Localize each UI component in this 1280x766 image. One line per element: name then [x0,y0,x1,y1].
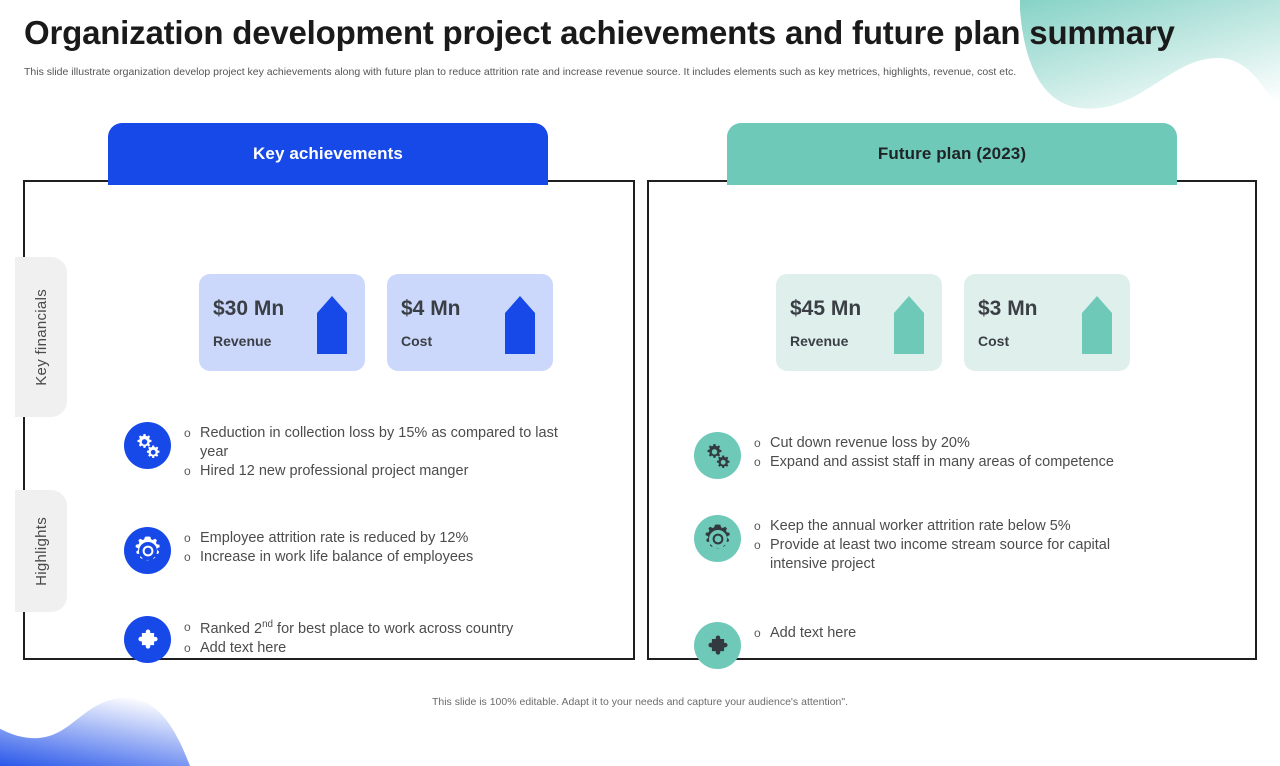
list-item-text: Add text here [770,624,856,643]
gears-icon [694,432,741,479]
bullet-list: o Cut down revenue loss by 20% o Expand … [754,432,1114,472]
bullet-group: o Cut down revenue loss by 20% o Expand … [694,432,1114,479]
tab-key-achievements[interactable]: Key achievements [108,123,548,185]
side-label-highlights-text: Highlights [33,517,50,586]
bullet-marker: o [184,529,200,548]
bullet-group: o Employee attrition rate is reduced by … [124,527,473,574]
list-item: o Provide at least two income stream sou… [754,536,1160,574]
tab-future-plan-label: Future plan (2023) [878,144,1026,164]
list-item: o Ranked 2nd for best place to work acro… [184,618,513,639]
panel-future-plan: $45 Mn Revenue $3 Mn Cost [647,180,1257,660]
tab-key-achievements-label: Key achievements [253,144,403,164]
list-item: o Add text here [754,624,856,643]
bullet-list: o Ranked 2nd for best place to work acro… [184,616,513,658]
list-item: o Reduction in collection loss by 15% as… [184,424,580,462]
list-item-text: Employee attrition rate is reduced by 12… [200,529,468,548]
list-item: o Keep the annual worker attrition rate … [754,517,1160,536]
kpi-value-cost: $4 Mn [401,296,461,322]
bullet-group: o Add text here [694,622,856,669]
bullet-list: o Keep the annual worker attrition rate … [754,515,1160,574]
kpi-card-revenue: $45 Mn Revenue [776,274,942,371]
slide-header: Organization development project achieve… [24,14,1204,79]
gears-icon [124,422,171,469]
bullet-list: o Employee attrition rate is reduced by … [184,527,473,567]
kpi-label-cost: Cost [401,333,461,349]
arrow-up-icon [894,296,924,354]
bullet-marker: o [754,453,770,472]
kpi-value-cost: $3 Mn [978,296,1038,322]
list-item: o Increase in work life balance of emplo… [184,548,473,567]
kpi-value-revenue: $45 Mn [790,296,861,322]
bullet-marker: o [754,536,770,574]
bullet-marker: o [184,639,200,658]
bullet-group: o Keep the annual worker attrition rate … [694,515,1160,574]
list-item: o Employee attrition rate is reduced by … [184,529,473,548]
bullet-group: o Ranked 2nd for best place to work acro… [124,616,513,663]
list-item-text: Expand and assist staff in many areas of… [770,453,1114,472]
kpi-row-future-plan: $45 Mn Revenue $3 Mn Cost [776,274,1130,371]
kpi-card-cost: $4 Mn Cost [387,274,553,371]
kpi-card-cost: $3 Mn Cost [964,274,1130,371]
page-subtitle: This slide illustrate organization devel… [24,65,1204,79]
list-item-text: Increase in work life balance of employe… [200,548,473,567]
list-item-text: Keep the annual worker attrition rate be… [770,517,1071,536]
bullet-marker: o [184,424,200,462]
kpi-label-revenue: Revenue [213,333,284,349]
side-label-highlights: Highlights [15,490,67,612]
panel-key-achievements: Key financials Highlights $30 Mn Revenue… [23,180,635,660]
gear-icon [694,515,741,562]
bullet-marker: o [754,517,770,536]
page-title: Organization development project achieve… [24,14,1204,53]
puzzle-icon [124,616,171,663]
gear-icon [124,527,171,574]
list-item: o Hired 12 new professional project mang… [184,462,580,481]
tab-future-plan[interactable]: Future plan (2023) [727,123,1177,185]
puzzle-icon [694,622,741,669]
side-label-key-financials: Key financials [15,257,67,417]
arrow-up-icon [505,296,535,354]
arrow-up-icon [317,296,347,354]
kpi-label-revenue: Revenue [790,333,861,349]
bullet-list: o Add text here [754,622,856,643]
list-item-text: Ranked 2nd for best place to work across… [200,618,513,639]
bullet-marker: o [754,434,770,453]
kpi-row-key-achievements: $30 Mn Revenue $4 Mn Cost [199,274,553,371]
kpi-card-revenue: $30 Mn Revenue [199,274,365,371]
arrow-up-icon [1082,296,1112,354]
list-item-text: Provide at least two income stream sourc… [770,536,1160,574]
list-item: o Add text here [184,639,513,658]
list-item-text: Reduction in collection loss by 15% as c… [200,424,580,462]
kpi-value-revenue: $30 Mn [213,296,284,322]
bullet-list: o Reduction in collection loss by 15% as… [184,422,580,481]
list-item: o Cut down revenue loss by 20% [754,434,1114,453]
bullet-marker: o [184,548,200,567]
bullet-marker: o [184,462,200,481]
side-label-key-financials-text: Key financials [33,289,50,386]
list-item-text: Hired 12 new professional project manger [200,462,468,481]
footer-note: This slide is 100% editable. Adapt it to… [0,696,1280,708]
bullet-group: o Reduction in collection loss by 15% as… [124,422,580,481]
bullet-marker: o [754,624,770,643]
kpi-label-cost: Cost [978,333,1038,349]
list-item-text: Cut down revenue loss by 20% [770,434,970,453]
list-item: o Expand and assist staff in many areas … [754,453,1114,472]
bullet-marker: o [184,618,200,639]
list-item-text: Add text here [200,639,286,658]
